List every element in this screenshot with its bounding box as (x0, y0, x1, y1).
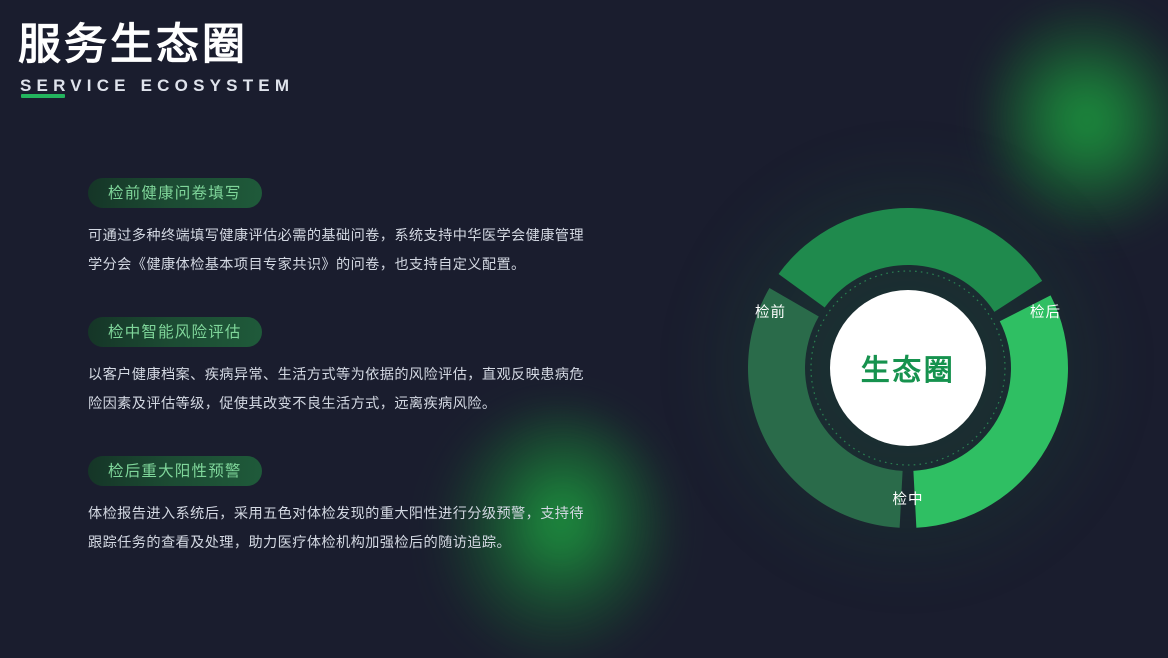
title-accent-bar (21, 94, 65, 98)
page-title: 服务生态圈 (18, 20, 294, 70)
ecosystem-donut-chart: 生态圈 检前 检中 检后 (743, 203, 1073, 533)
badge-post-exam[interactable]: 检后重大阳性预警 (88, 456, 262, 486)
slide-root: 服务生态圈 SERVICE ECOSYSTEM 检前健康问卷填写 可通过多种终端… (0, 0, 1168, 658)
content-block: 检前健康问卷填写 可通过多种终端填写健康评估必需的基础问卷，系统支持中华医学会健… (88, 178, 608, 280)
badge-mid-exam[interactable]: 检中智能风险评估 (88, 317, 262, 347)
page-header: 服务生态圈 SERVICE ECOSYSTEM (18, 20, 294, 97)
page-subtitle-wrap: SERVICE ECOSYSTEM (18, 75, 294, 97)
content-block: 检后重大阳性预警 体检报告进入系统后，采用五色对体检发现的重大阳性进行分级预警，… (88, 456, 608, 558)
badge-pre-exam[interactable]: 检前健康问卷填写 (88, 178, 262, 208)
arc-label-mid-exam: 检中 (893, 488, 924, 509)
donut-center-label: 生态圈 (861, 347, 956, 389)
block-description: 可通过多种终端填写健康评估必需的基础问卷，系统支持中华医学会健康管理学分会《健康… (88, 222, 596, 280)
arc-label-pre-exam: 检前 (755, 301, 786, 322)
block-description: 以客户健康档案、疾病异常、生活方式等为依据的风险评估，直观反映患病危险因素及评估… (88, 361, 596, 419)
block-description: 体检报告进入系统后，采用五色对体检发现的重大阳性进行分级预警，支持待跟踪任务的查… (88, 500, 596, 558)
donut-center-disc: 生态圈 (830, 290, 986, 446)
content-list: 检前健康问卷填写 可通过多种终端填写健康评估必需的基础问卷，系统支持中华医学会健… (88, 178, 608, 558)
content-block: 检中智能风险评估 以客户健康档案、疾病异常、生活方式等为依据的风险评估，直观反映… (88, 317, 608, 419)
arc-label-post-exam: 检后 (1030, 301, 1061, 322)
